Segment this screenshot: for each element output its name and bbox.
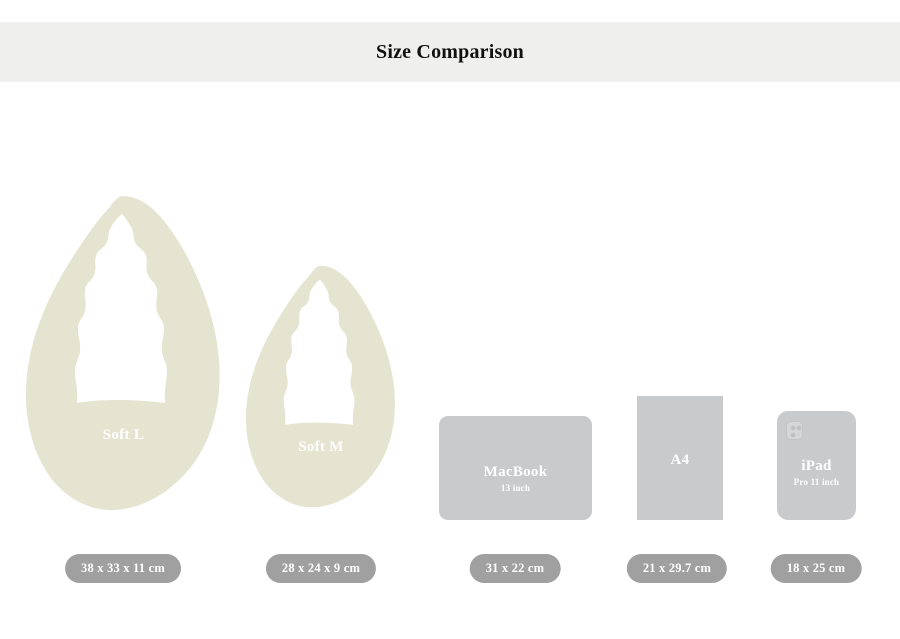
size-pill-text: 21 x 29.7 cm — [643, 561, 711, 576]
size-pill-ipad: 18 x 25 cm — [771, 554, 862, 583]
size-pill-soft-l: 38 x 33 x 11 cm — [65, 554, 181, 583]
camera-lens-icon — [796, 425, 802, 431]
object-subtitle: Pro 11 inch — [777, 477, 856, 488]
size-pill-text: 18 x 25 cm — [787, 561, 846, 576]
ipad-shape: iPad Pro 11 inch — [777, 411, 856, 520]
size-pill-macbook: 31 x 22 cm — [470, 554, 561, 583]
comparison-item-a4[interactable]: A4 — [637, 396, 723, 520]
page-title: Size Comparison — [376, 41, 524, 64]
object-title: iPad — [777, 458, 856, 475]
object-title: A4 — [637, 452, 723, 469]
comparison-strip: Soft L Soft M MacBook 13 inch — [0, 82, 900, 639]
size-pill-soft-m: 28 x 24 x 9 cm — [266, 554, 376, 583]
size-pill-a4: 21 x 29.7 cm — [627, 554, 727, 583]
size-pill-text: 28 x 24 x 9 cm — [282, 561, 360, 576]
camera-module-icon — [786, 421, 803, 440]
camera-flash-icon — [797, 433, 800, 436]
object-label-macbook: MacBook 13 inch — [439, 464, 592, 493]
comparison-item-soft-l[interactable]: Soft L — [26, 190, 221, 520]
header-band: Size Comparison — [0, 22, 900, 82]
size-comparison-page: Size Comparison Soft L Soft M — [0, 0, 900, 639]
comparison-item-soft-m[interactable]: Soft M — [246, 256, 396, 520]
a4-shape: A4 — [637, 396, 723, 520]
camera-lens-icon — [790, 425, 796, 431]
object-subtitle: 13 inch — [439, 483, 592, 494]
camera-lens-icon — [790, 432, 796, 438]
object-label-ipad: iPad Pro 11 inch — [777, 458, 856, 487]
macbook-shape: MacBook 13 inch — [439, 416, 592, 520]
bag-silhouette-soft-m: Soft M — [246, 256, 396, 520]
size-pill-text: 38 x 33 x 11 cm — [81, 561, 165, 576]
comparison-item-macbook[interactable]: MacBook 13 inch — [439, 416, 592, 520]
object-title: MacBook — [439, 464, 592, 481]
object-label-a4: A4 — [637, 452, 723, 469]
comparison-item-ipad[interactable]: iPad Pro 11 inch — [777, 411, 856, 520]
bag-silhouette-soft-l: Soft L — [26, 190, 221, 520]
size-pill-text: 31 x 22 cm — [486, 561, 545, 576]
